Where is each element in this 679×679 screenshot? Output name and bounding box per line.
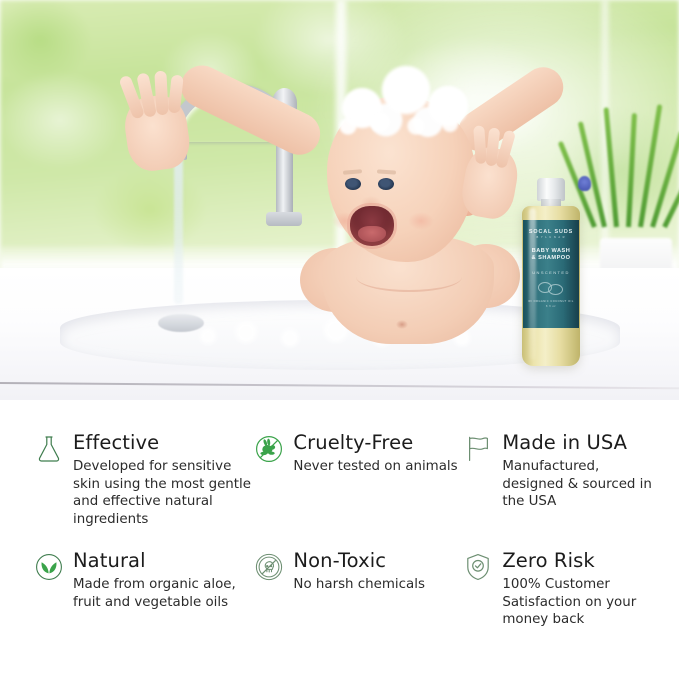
feature-title: Made in USA	[502, 432, 655, 454]
feature-description: Never tested on animals	[293, 458, 463, 476]
feature-title: Zero Risk	[502, 550, 655, 572]
feature-row-2: Natural Made from organic aloe, fruit an…	[24, 550, 655, 629]
feature-title: Effective	[73, 432, 254, 454]
feature-effective-text: Effective Developed for sensitive skin u…	[73, 432, 254, 528]
feature-effective: Effective Developed for sensitive skin u…	[24, 432, 254, 528]
feature-description: 100% Customer Satisfaction on your money…	[502, 576, 655, 629]
bottle-highlight	[529, 208, 536, 360]
feature-non-toxic: Non-Toxic No harsh chemicals	[254, 550, 463, 629]
product-bottle: SOCAL SUDS B Y L U N A R BABY WASH & SHA…	[522, 178, 580, 366]
feature-zero-risk: Zero Risk 100% Customer Satisfaction on …	[463, 550, 655, 629]
rabbit-no-icon	[254, 434, 284, 464]
skull-no-icon	[254, 552, 284, 582]
feature-description: Manufactured, designed & sourced in the …	[502, 458, 655, 511]
shield-check-icon	[463, 552, 493, 582]
flask-icon	[34, 434, 64, 464]
bottle-cap	[537, 178, 565, 201]
baby-cheek-right	[408, 212, 434, 230]
bottle-coconut-illustration	[538, 280, 564, 295]
feature-benefits-panel: Effective Developed for sensitive skin u…	[0, 400, 679, 679]
baby-eye-right	[378, 178, 394, 190]
feature-description: No harsh chemicals	[293, 576, 463, 594]
feature-title: Natural	[73, 550, 254, 572]
baby-left-arm	[174, 58, 327, 162]
feature-description: Made from organic aloe, fruit and vegeta…	[73, 576, 254, 611]
feature-title: Non-Toxic	[293, 550, 463, 572]
feature-made-in-usa: Made in USA Manufactured, designed & sou…	[463, 432, 655, 528]
feature-cruelty-free-text: Cruelty-Free Never tested on animals	[293, 432, 463, 476]
feature-title: Cruelty-Free	[293, 432, 463, 454]
soap-foam-edge	[332, 112, 472, 142]
feature-non-toxic-text: Non-Toxic No harsh chemicals	[293, 550, 463, 594]
feature-cruelty-free: Cruelty-Free Never tested on animals	[254, 432, 463, 528]
flag-icon	[463, 434, 493, 464]
baby-navel	[396, 320, 408, 329]
feature-row-1: Effective Developed for sensitive skin u…	[24, 432, 655, 528]
baby-eye-left	[345, 178, 361, 190]
feature-natural-text: Natural Made from organic aloe, fruit an…	[73, 550, 254, 611]
leaf-circle-icon	[34, 552, 64, 582]
feature-description: Developed for sensitive skin using the m…	[73, 458, 254, 528]
hero-photo: SOCAL SUDS B Y L U N A R BABY WASH & SHA…	[0, 0, 679, 400]
baby-left-hand	[121, 92, 193, 174]
baby-tongue	[358, 226, 386, 242]
feature-zero-risk-text: Zero Risk 100% Customer Satisfaction on …	[502, 550, 655, 629]
product-listing-image: SOCAL SUDS B Y L U N A R BABY WASH & SHA…	[0, 0, 679, 679]
baby-neck-crease	[356, 262, 462, 292]
feature-made-in-usa-text: Made in USA Manufactured, designed & sou…	[502, 432, 655, 511]
feature-natural: Natural Made from organic aloe, fruit an…	[24, 550, 254, 629]
